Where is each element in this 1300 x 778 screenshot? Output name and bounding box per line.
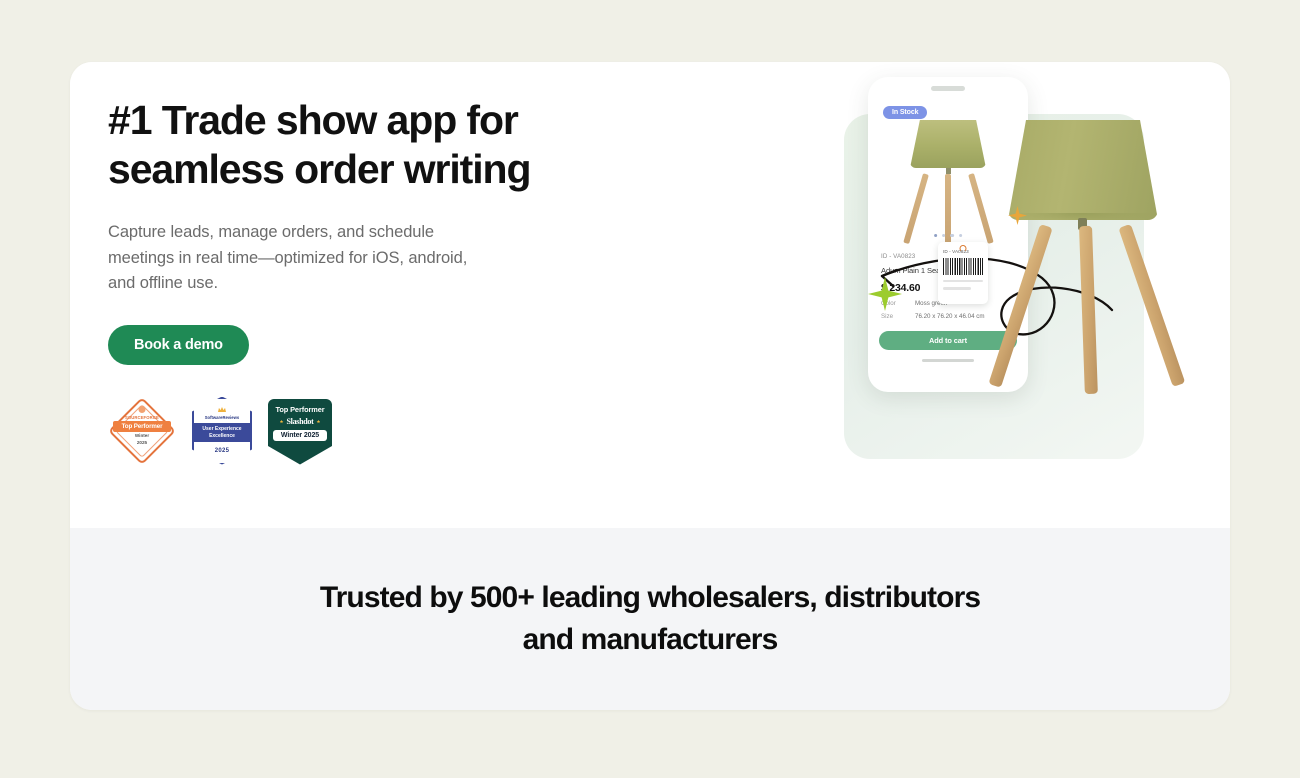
crown-icon [218, 407, 226, 412]
badge-brand-label: Slashdot [287, 417, 314, 426]
badge-brand-label: SoftwareReviews [205, 415, 239, 420]
product-attribute-row: Size 76.20 x 76.20 x 46.04 cm [881, 313, 1015, 320]
page-title: #1 Trade show app for seamless order wri… [108, 96, 668, 194]
hero-top-section: #1 Trade show app for seamless order wri… [70, 62, 1230, 528]
badge-brand-row: Slashdot [280, 417, 321, 426]
hero-text-column: #1 Trade show app for seamless order wri… [108, 96, 668, 465]
star-icon [280, 420, 284, 424]
carousel-dots[interactable] [934, 234, 962, 237]
tag-hole-icon [960, 245, 967, 252]
phone-home-indicator [922, 359, 974, 362]
hero-subheadline: Capture leads, manage orders, and schedu… [108, 220, 488, 297]
hero-card: #1 Trade show app for seamless order wri… [70, 62, 1230, 710]
barcode-icon [943, 258, 983, 275]
book-a-demo-button[interactable]: Book a demo [108, 325, 249, 365]
sparkle-icon [1008, 206, 1027, 225]
badge-season-label: Winter 2025 [273, 430, 327, 441]
sourceforge-diamond-icon [108, 397, 176, 465]
phone-speaker-icon [931, 86, 965, 91]
lamp-thumbnail-icon [910, 120, 986, 244]
sparkle-icon [868, 277, 902, 311]
award-badges: SOURCEFORGE Top Performer Winter 2025 So… [108, 395, 668, 465]
add-to-cart-button[interactable]: Add to cart [879, 331, 1017, 350]
badge-title-label: User Experience Excellence [194, 423, 250, 442]
status-badge: In Stock [883, 106, 927, 119]
lamp-product-photo [1000, 90, 1190, 510]
badge-year-label: 2025 [215, 448, 230, 454]
attribute-key: Size [881, 313, 915, 320]
trusted-by-heading: Trusted by 500+ leading wholesalers, dis… [320, 577, 980, 661]
star-icon [316, 420, 320, 424]
page-root: #1 Trade show app for seamless order wri… [0, 0, 1300, 778]
tag-placeholder-line [943, 280, 983, 282]
badge-software-reviews-user-experience: SoftwareReviews User Experience Excellen… [192, 397, 252, 465]
badge-sourceforge-top-performer: SOURCEFORGE Top Performer Winter 2025 [108, 397, 176, 465]
attribute-value: 76.20 x 76.20 x 46.04 cm [915, 313, 984, 320]
tag-placeholder-line [943, 287, 971, 289]
badge-title-label: Top Performer [275, 406, 324, 415]
trusted-by-section: Trusted by 500+ leading wholesalers, dis… [70, 528, 1230, 710]
badge-slashdot-top-performer: Top Performer Slashdot Winter 2025 [268, 399, 332, 465]
price-hang-tag: ID - VA0823 [938, 242, 988, 304]
hero-illustration: In Stock [760, 72, 1190, 512]
